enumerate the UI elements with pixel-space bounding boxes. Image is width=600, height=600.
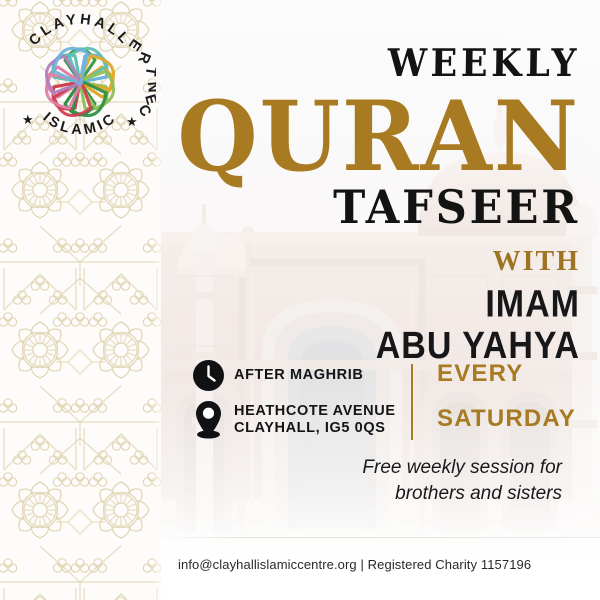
time-label: AFTER MAGHRIB bbox=[234, 367, 363, 384]
location-line2: CLAYHALL, IG5 0QS bbox=[234, 420, 396, 437]
footer-divider bbox=[161, 537, 600, 538]
organization-logo: CLAYHALL ISLAMIC C E N T R E ★ ★ bbox=[4, 4, 156, 156]
poster-canvas: CLAYHALL ISLAMIC C E N T R E ★ ★ WEEKLY bbox=[0, 0, 600, 600]
location-line1: HEATHCOTE AVENUE bbox=[234, 403, 396, 420]
logo-rosette bbox=[40, 42, 120, 122]
schedule-block: EVERY SATURDAY bbox=[437, 362, 576, 431]
svg-text:★: ★ bbox=[126, 115, 138, 130]
location-label: HEATHCOTE AVENUE CLAYHALL, IG5 0QS bbox=[234, 403, 396, 437]
clock-icon bbox=[193, 360, 224, 391]
label-with: WITH bbox=[150, 248, 580, 276]
vertical-divider bbox=[411, 364, 413, 440]
speaker-name: IMAM ABU YAHYA bbox=[150, 284, 580, 368]
schedule-line2: SATURDAY bbox=[437, 407, 576, 431]
footer-contact: info@clayhallislamiccentre.org | Registe… bbox=[178, 557, 531, 572]
tagline-line1: Free weekly session for bbox=[232, 455, 562, 481]
map-pin-icon bbox=[193, 400, 224, 440]
details-left-column: AFTER MAGHRIB HEATHCOTE AVENUE CLAYHALL,… bbox=[193, 360, 398, 440]
event-details: AFTER MAGHRIB HEATHCOTE AVENUE CLAYHALL,… bbox=[193, 360, 583, 455]
speaker-name-line1: IMAM bbox=[150, 284, 580, 326]
time-row: AFTER MAGHRIB bbox=[193, 360, 398, 391]
title-quran: QURAN bbox=[167, 88, 580, 186]
title-weekly: WEEKLY bbox=[184, 44, 580, 82]
tagline-line2: brothers and sisters bbox=[232, 481, 562, 507]
tagline: Free weekly session for brothers and sis… bbox=[232, 455, 562, 506]
title-tafseer: TAFSEER bbox=[176, 184, 580, 230]
headline-block: WEEKLY QURAN TAFSEER WITH IMAM ABU YAHYA bbox=[150, 44, 580, 359]
logo-ring-text-top: CLAYHALL bbox=[26, 12, 134, 49]
schedule-line1: EVERY bbox=[437, 362, 576, 386]
location-row: HEATHCOTE AVENUE CLAYHALL, IG5 0QS bbox=[193, 400, 398, 440]
svg-text:★: ★ bbox=[22, 113, 34, 128]
